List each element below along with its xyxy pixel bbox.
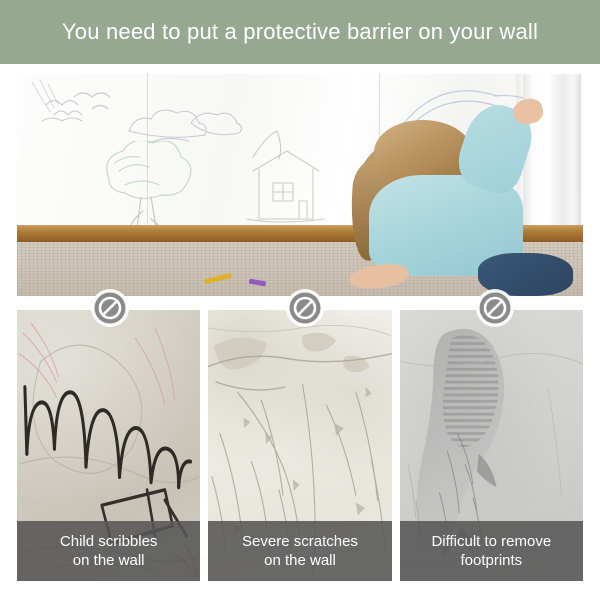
prohibition-icon-2 [285,288,325,328]
caption-line-2: on the wall [73,552,145,569]
card-caption-child-scribbles: Child scribbleson the wall [17,521,200,581]
infographic-page: You need to put a protective barrier on … [0,0,600,600]
header-banner: You need to put a protective barrier on … [0,0,600,64]
girl-foot [348,261,410,293]
prohibition-icon-1 [90,288,130,328]
hero-photo [17,74,583,296]
girl-figure [334,101,583,296]
problem-card-severe-scratches: Severe scratcheson the wall [208,310,391,581]
problem-card-row: Child scribbleson the wall [17,310,583,581]
caption-line-1: Difficult to remove [431,533,551,550]
caption-line-1: Severe scratches [242,533,358,550]
prohibition-icon-3 [475,288,515,328]
card-caption-severe-scratches: Severe scratcheson the wall [208,521,391,581]
page-title: You need to put a protective barrier on … [62,21,538,43]
problem-card-difficult-footprints: Difficult to removefootprints [400,310,583,581]
card-caption-text: Child scribbleson the wall [60,532,158,570]
problem-card-child-scribbles: Child scribbleson the wall [17,310,200,581]
card-caption-difficult-footprints: Difficult to removefootprints [400,521,583,581]
caption-line-2: footprints [460,552,522,569]
caption-line-2: on the wall [264,552,336,569]
card-caption-text: Difficult to removefootprints [431,532,551,570]
card-caption-text: Severe scratcheson the wall [242,532,358,570]
doodle-scratch-lines-icon [28,78,88,138]
caption-line-1: Child scribbles [60,533,158,550]
hero-scene [17,74,583,296]
